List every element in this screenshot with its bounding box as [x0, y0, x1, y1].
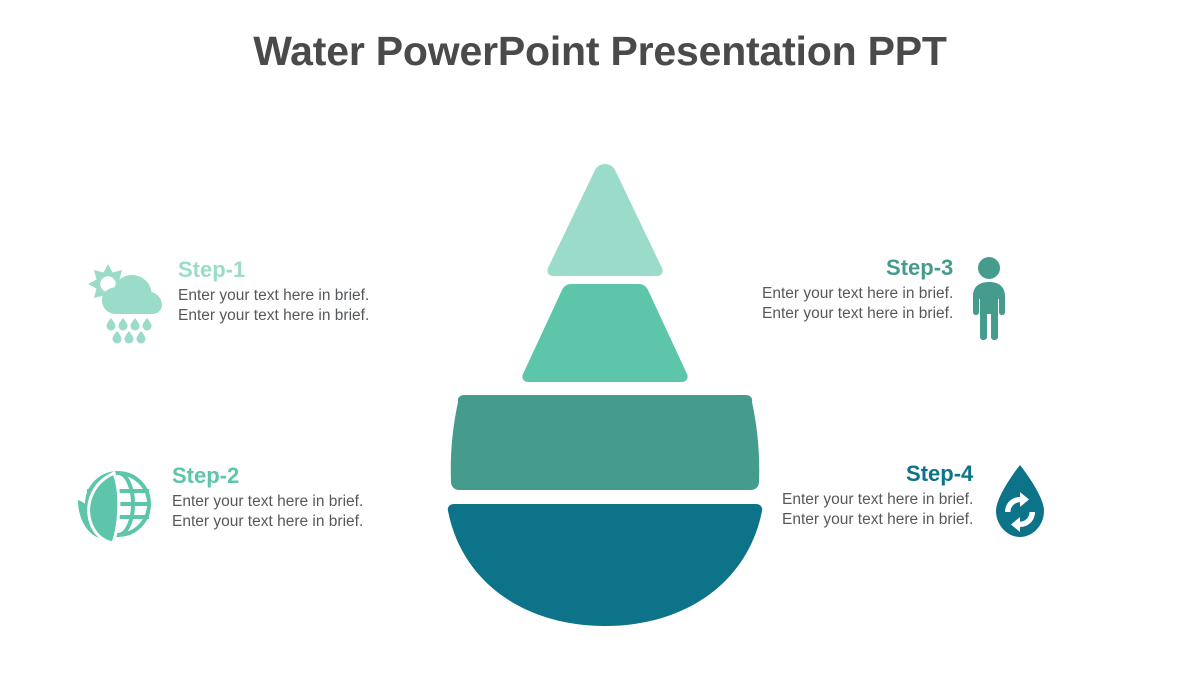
- step-body-line2-4: Enter your text here in brief.: [782, 510, 973, 530]
- globe-leaf-icon: [66, 464, 158, 544]
- slide-canvas: Water PowerPoint Presentation PPT: [0, 0, 1200, 675]
- step-item-1[interactable]: Step-1 Enter your text here in brief. En…: [86, 258, 369, 346]
- step-label-3: Step-3: [762, 256, 953, 280]
- step-body-line2-1: Enter your text here in brief.: [178, 306, 369, 326]
- step-item-2[interactable]: Step-2 Enter your text here in brief. En…: [66, 464, 363, 544]
- step-text-block-4: Step-4 Enter your text here in brief. En…: [782, 462, 973, 530]
- step-body-line2-3: Enter your text here in brief.: [762, 304, 953, 324]
- droplet-segment-3: [451, 395, 759, 490]
- step-item-4[interactable]: Step-4 Enter your text here in brief. En…: [782, 462, 1051, 542]
- step-body-line2-2: Enter your text here in brief.: [172, 512, 363, 532]
- step-body-line1-3: Enter your text here in brief.: [762, 284, 953, 304]
- step-text-block-3: Step-3 Enter your text here in brief. En…: [762, 256, 953, 324]
- droplet-segment-4: [448, 504, 762, 626]
- step-body-line1-4: Enter your text here in brief.: [782, 490, 973, 510]
- droplet-segment-2: [522, 284, 687, 382]
- step-body-line1-2: Enter your text here in brief.: [172, 492, 363, 512]
- page-title: Water PowerPoint Presentation PPT: [0, 28, 1200, 75]
- water-drop-recycle-icon: [989, 462, 1051, 542]
- step-text-block-2: Step-2 Enter your text here in brief. En…: [172, 464, 363, 532]
- step-label-1: Step-1: [178, 258, 369, 282]
- droplet-segment-1: [547, 164, 662, 276]
- step-text-block-1: Step-1 Enter your text here in brief. En…: [178, 258, 369, 326]
- sun-rain-cloud-icon: [86, 258, 164, 346]
- person-icon: [969, 256, 1009, 342]
- water-droplet-diagram: [440, 150, 770, 640]
- step-label-4: Step-4: [782, 462, 973, 486]
- step-item-3[interactable]: Step-3 Enter your text here in brief. En…: [762, 256, 1009, 342]
- step-label-2: Step-2: [172, 464, 363, 488]
- step-body-line1-1: Enter your text here in brief.: [178, 286, 369, 306]
